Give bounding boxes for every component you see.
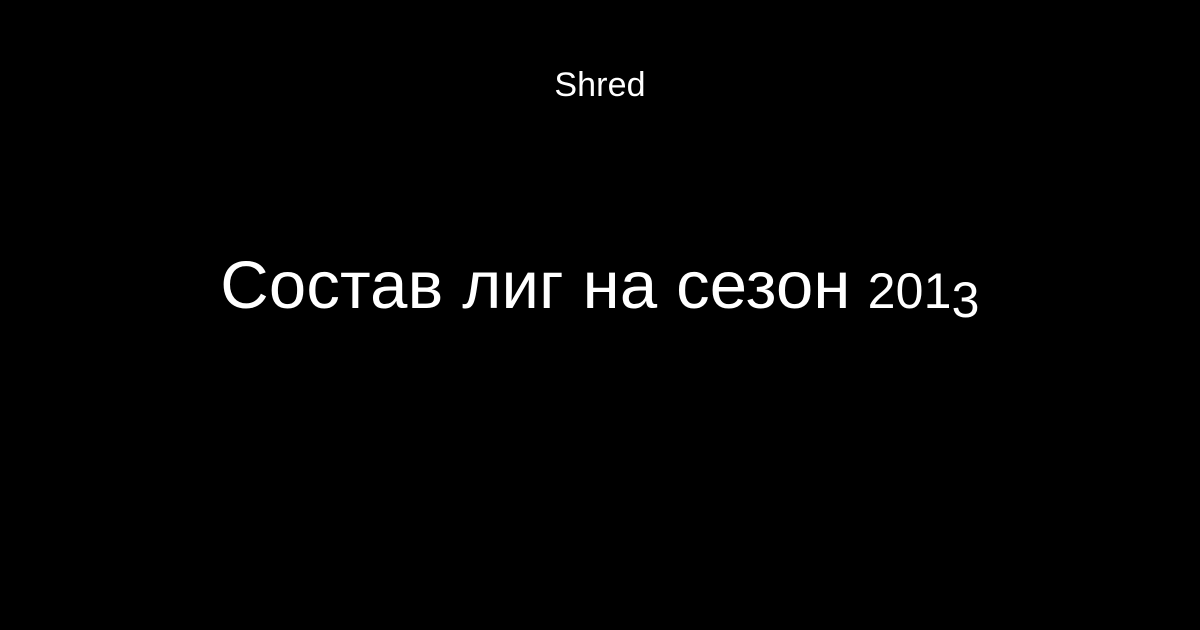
year-digit-1: 2 (868, 259, 896, 323)
year-digit-4: 3 (952, 268, 980, 332)
year-digit-3: 1 (924, 259, 952, 323)
title-slide: Shred Состав лиг на сезон 2 0 1 3 (0, 0, 1200, 630)
year-digit-2: 0 (896, 259, 924, 323)
season-year: 2 0 1 3 (868, 259, 980, 323)
page-title: Состав лиг на сезон (220, 254, 850, 318)
slide-title-row: Состав лиг на сезон 2 0 1 3 (0, 254, 1200, 344)
brand-label: Shred (0, 64, 1200, 106)
